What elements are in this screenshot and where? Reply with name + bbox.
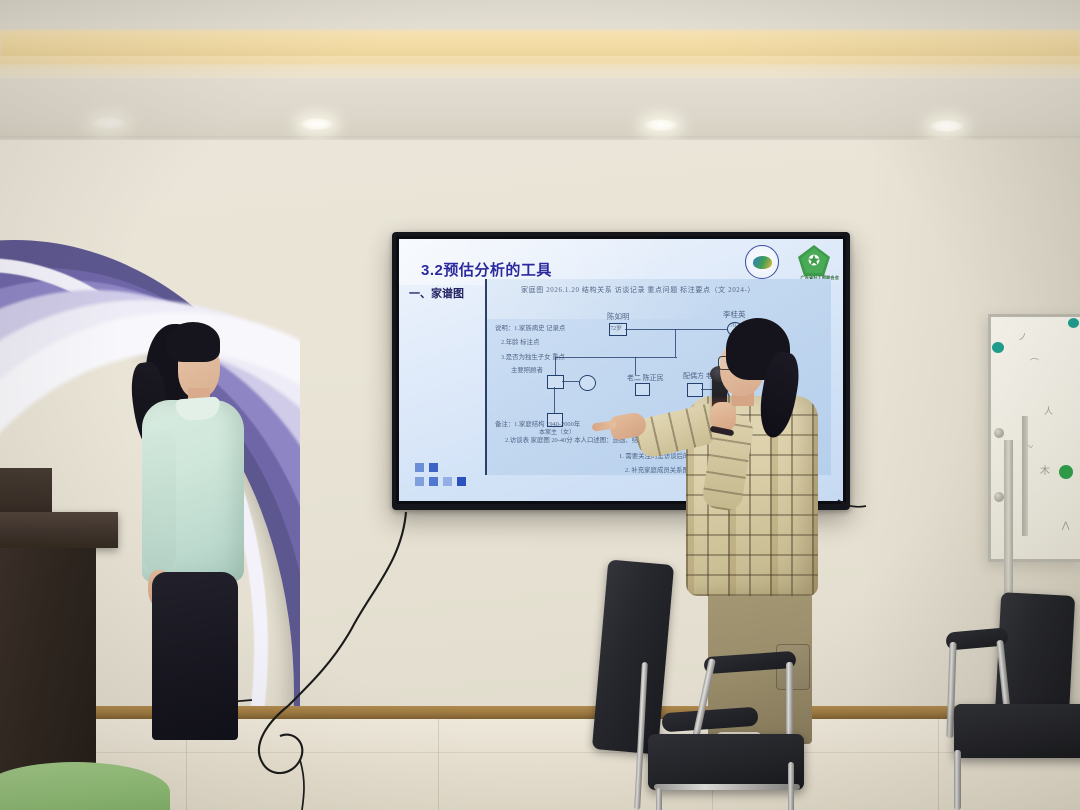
- genogram-child-line: [554, 387, 555, 413]
- genogram-node-female: [579, 375, 596, 391]
- genogram-father-age: 72岁: [610, 323, 622, 332]
- left-arm: [142, 430, 176, 572]
- whiteboard-writing: ⌒: [1030, 356, 1039, 369]
- chair-armrest: [704, 651, 797, 674]
- whiteboard-writing: 木: [1040, 462, 1050, 477]
- slide-deco-square: [457, 477, 466, 486]
- green-pentagon-logo: [797, 244, 831, 277]
- chair-frame-tube: [691, 658, 716, 744]
- whiteboard-stand-post: [1022, 416, 1028, 536]
- whiteboard-magnet[interactable]: [1059, 465, 1073, 479]
- hair-top: [166, 322, 220, 362]
- slide-deco-square: [429, 463, 438, 472]
- genogram-descent-line: [675, 329, 676, 357]
- whiteboard-writing: ノ: [1018, 330, 1027, 343]
- genogram-node-male: [635, 383, 650, 396]
- lectern-top: [0, 512, 118, 548]
- board-bottom-note: 备注：1.家庭结构 1940-2000年: [495, 419, 580, 428]
- genogram-couple-line: [562, 381, 579, 382]
- conference-chair-right[interactable]: [930, 600, 1080, 810]
- lectern-body: [0, 548, 96, 798]
- lectern-backpanel: [0, 468, 52, 516]
- chair-seat: [954, 704, 1080, 758]
- floor-tile-seam: [438, 719, 439, 810]
- whiteboard-magnet[interactable]: [1068, 318, 1079, 328]
- board-left-note: 3.是否为独生子女 重点: [501, 352, 565, 361]
- chair-frame-tube: [954, 750, 961, 810]
- chair-frame-tube: [656, 788, 662, 810]
- genogram-middle-note: 老二 陈正民: [627, 373, 664, 383]
- downlight-icon: [644, 119, 678, 132]
- whiteboard-adjust-knob[interactable]: [994, 428, 1004, 438]
- slide-deco-square: [443, 477, 452, 486]
- black-trousers: [152, 572, 238, 740]
- genogram-father-label: 陈如明: [607, 311, 630, 322]
- ceiling-soffit: [0, 78, 1080, 140]
- board-left-note: 说明：1.家族病史 记录点: [495, 323, 565, 332]
- slide-deco-square: [415, 477, 424, 486]
- chair-seat: [648, 734, 804, 790]
- board-left-note: 2.年龄 标注点: [501, 337, 539, 346]
- board-left-note: 主要照顾者: [511, 365, 543, 374]
- chair-frame-tube: [788, 762, 794, 810]
- circular-institution-logo: [745, 245, 779, 279]
- meeting-room-photo: 3.2预估分析的工具 一、家谱图 广东省社工师联合会 家庭图 2026.1.20…: [0, 0, 1080, 810]
- downlight-icon: [930, 120, 964, 133]
- board-header-note: 家庭图 2026.1.20 结构关系 访谈记录 重点问题 标注要点（文 2024…: [521, 285, 755, 295]
- whiteboard-magnet[interactable]: [992, 342, 1004, 353]
- downlight-icon: [92, 117, 126, 130]
- whiteboard-adjust-knob[interactable]: [994, 492, 1004, 502]
- genogram-sibling-bar: [555, 357, 677, 358]
- observer-woman-left: [138, 320, 258, 740]
- slide-subtitle: 一、家谱图: [409, 285, 464, 301]
- whiteboard-writing: 人: [1044, 404, 1053, 417]
- whiteboard-writing: ⋀: [1062, 520, 1069, 531]
- slide-title: 3.2预估分析的工具: [421, 259, 552, 280]
- slide-deco-square: [429, 477, 438, 486]
- conference-chair-center[interactable]: [596, 562, 846, 810]
- floor-seam: [0, 752, 1080, 753]
- chair-frame-tube: [654, 784, 800, 790]
- chair-armrest: [661, 707, 758, 733]
- downlight-icon: [300, 118, 334, 131]
- slide-deco-square: [415, 463, 424, 472]
- genogram-node-male: [547, 375, 564, 389]
